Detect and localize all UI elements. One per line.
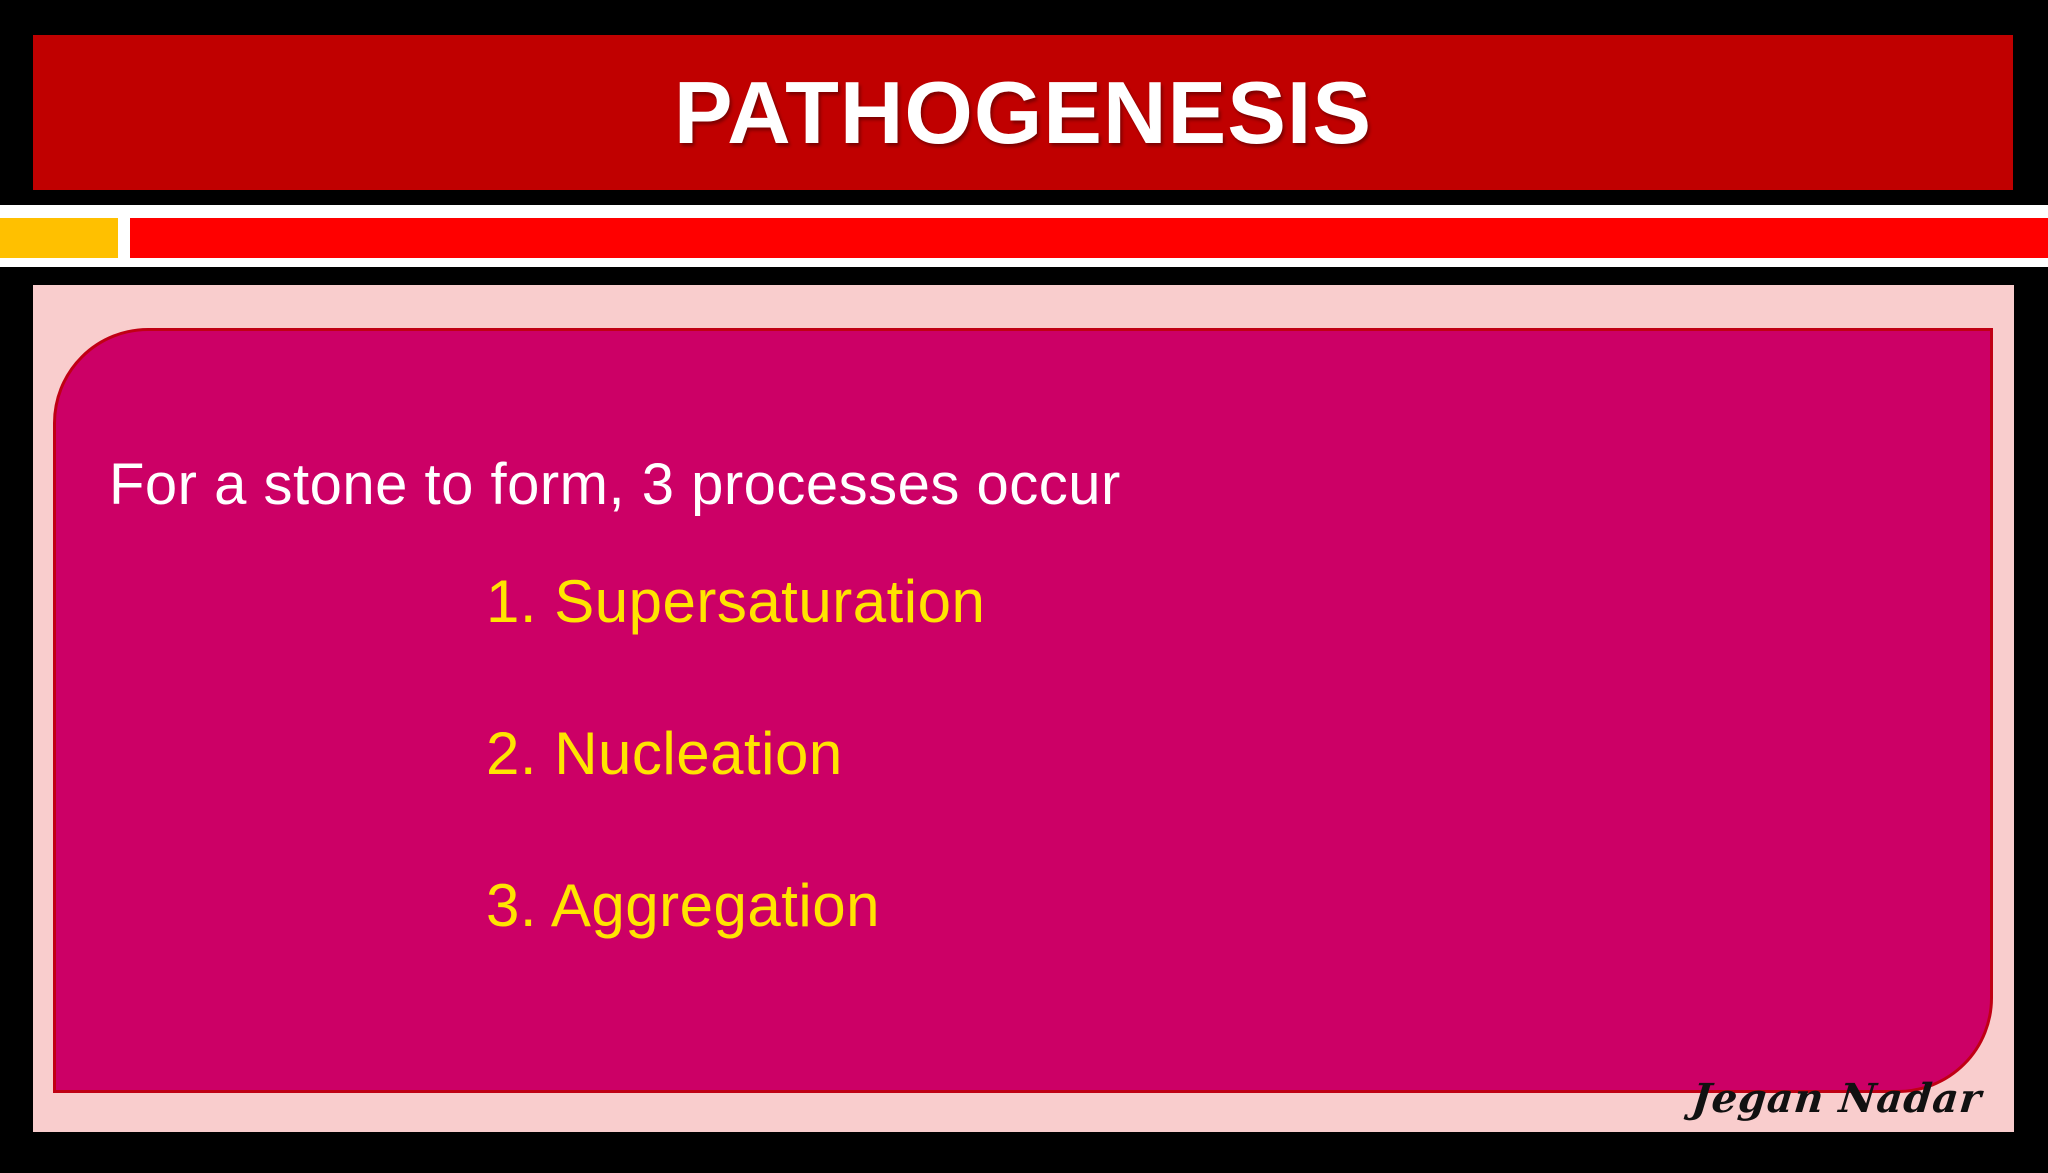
author-signature: Jegan Nadar bbox=[1690, 1075, 1985, 1122]
intro-text: For a stone to form, 3 processes occur bbox=[109, 451, 1121, 518]
list-item: 3. Aggregation bbox=[486, 871, 880, 940]
accent-strip bbox=[0, 205, 2048, 267]
slide-title-bar: PATHOGENESIS bbox=[33, 35, 2013, 190]
accent-block-orange bbox=[0, 218, 118, 258]
page-title: PATHOGENESIS bbox=[674, 69, 1372, 157]
list-item: 1. Supersaturation bbox=[486, 567, 985, 636]
slide-root: PATHOGENESIS For a stone to form, 3 proc… bbox=[0, 0, 2048, 1173]
content-panel: For a stone to form, 3 processes occur 1… bbox=[33, 285, 2014, 1132]
list-item: 2. Nucleation bbox=[486, 719, 843, 788]
content-card: For a stone to form, 3 processes occur 1… bbox=[53, 328, 1993, 1093]
accent-block-red bbox=[130, 218, 2048, 258]
